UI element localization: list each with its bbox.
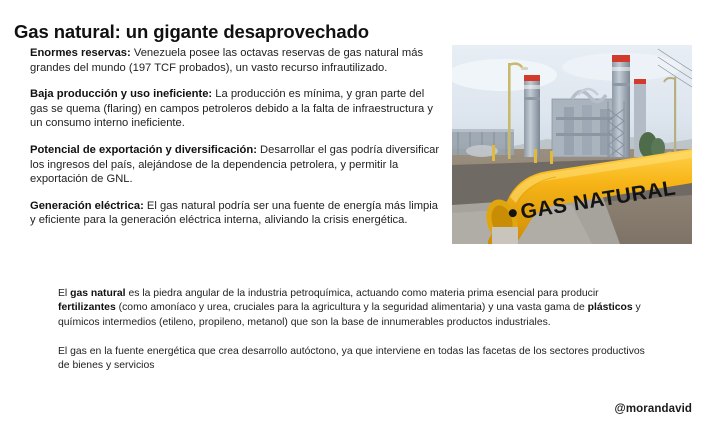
emphasis-text: fertilizantes xyxy=(58,302,116,313)
bullet-list: Enormes reservas: Venezuela posee las oc… xyxy=(30,46,444,228)
author-handle: @morandavid xyxy=(615,403,693,415)
bullet-lead-label: Enormes reservas: xyxy=(30,47,131,59)
bullet-lead-label: Generación eléctrica: xyxy=(30,200,144,212)
list-item: Potencial de exportación y diversificaci… xyxy=(30,143,444,187)
list-item: Enormes reservas: Venezuela posee las oc… xyxy=(30,46,444,75)
gas-plant-illustration: GAS NATURAL xyxy=(452,45,692,244)
body-text: El xyxy=(58,288,70,299)
body-text: (como amoníaco y urea, cruciales para la… xyxy=(116,302,588,313)
paragraph-petrochemical: El gas natural es la piedra angular de l… xyxy=(58,287,658,330)
bullet-lead-label: Baja producción y uso ineficiente: xyxy=(30,88,212,100)
paragraph-energy-source: El gas en la fuente energética que crea … xyxy=(58,345,658,374)
body-text: El gas en la fuente energética que crea … xyxy=(58,346,645,371)
emphasis-text: gas natural xyxy=(70,288,125,299)
lower-text-block: El gas natural es la piedra angular de l… xyxy=(58,287,658,373)
bullet-lead-label: Potencial de exportación y diversificaci… xyxy=(30,144,257,156)
page-title: Gas natural: un gigante desaprovechado xyxy=(14,21,369,43)
list-item: Generación eléctrica: El gas natural pod… xyxy=(30,199,444,228)
list-item: Baja producción y uso ineficiente: La pr… xyxy=(30,87,444,131)
body-text: es la piedra angular de la industria pet… xyxy=(126,288,599,299)
emphasis-text: plásticos xyxy=(588,302,633,313)
gas-plant-photo: GAS NATURAL xyxy=(452,45,692,244)
slide-canvas: Gas natural: un gigante desaprovechado E… xyxy=(0,0,720,422)
